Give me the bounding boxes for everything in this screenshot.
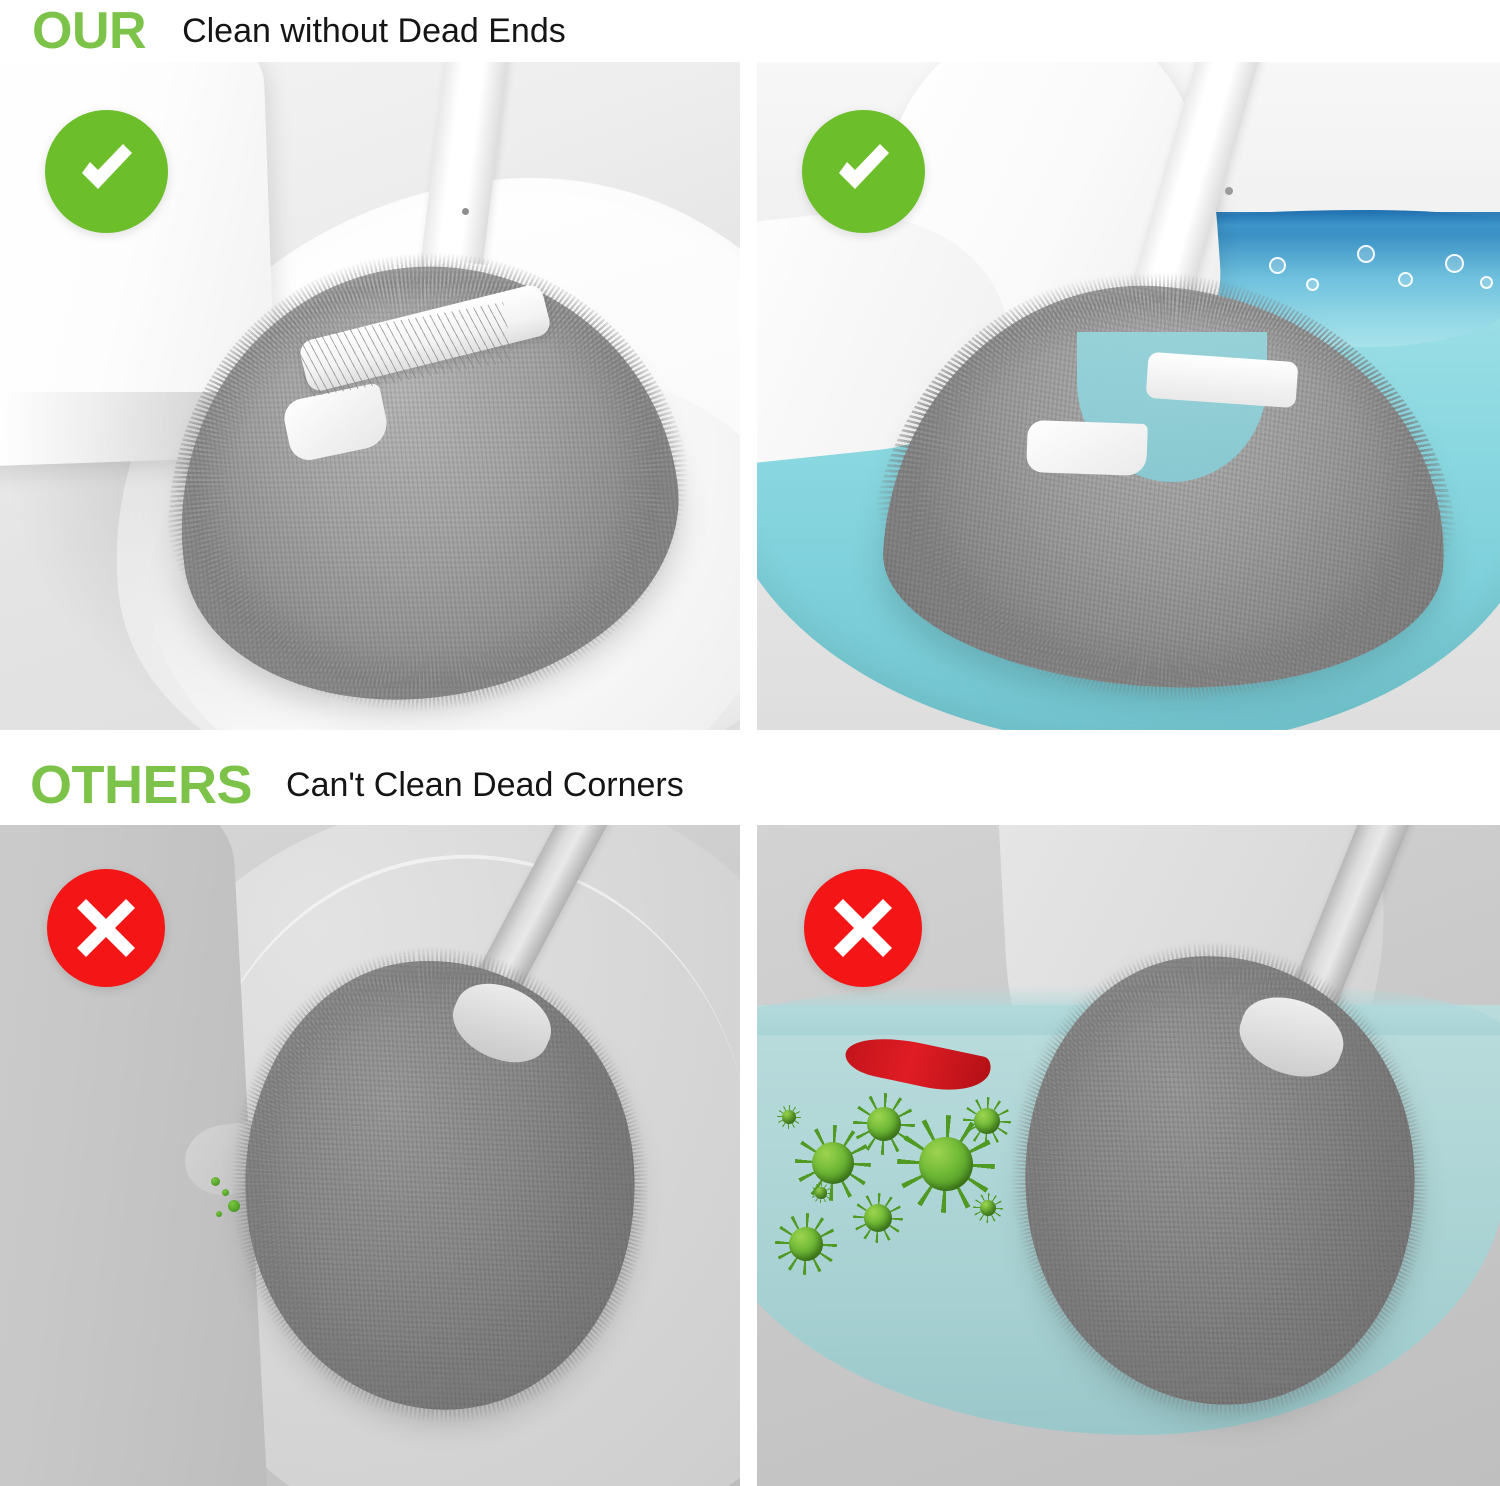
cross-icon — [71, 893, 141, 963]
germ-icon — [811, 1183, 831, 1203]
bubble — [1269, 257, 1286, 274]
germ-spot — [222, 1189, 229, 1196]
check-badge — [45, 110, 168, 233]
germ-icon — [963, 1097, 1011, 1145]
check-icon — [827, 135, 901, 209]
germ-icon — [795, 1125, 871, 1201]
panel-others-dry — [0, 825, 740, 1486]
brush-head-neck — [1026, 420, 1148, 476]
infographic-root: OUR Clean without Dead Ends — [0, 0, 1500, 1486]
cross-badge — [804, 869, 922, 987]
germ-core — [815, 1187, 826, 1198]
germ-spot — [216, 1211, 222, 1217]
check-badge — [802, 110, 925, 233]
germ-core — [864, 1204, 892, 1232]
our-tag-label: OUR — [32, 5, 146, 57]
panel-others-wet — [757, 825, 1500, 1486]
bubble — [1445, 254, 1464, 273]
our-subtitle: Clean without Dead Ends — [182, 14, 566, 48]
panel-our-dry — [0, 62, 740, 730]
germ-core — [782, 1110, 795, 1123]
cross-icon — [828, 893, 898, 963]
bubble — [1480, 276, 1493, 289]
others-tag-label: OTHERS — [30, 758, 252, 812]
germ-spot — [211, 1177, 220, 1186]
others-header: OTHERS Can't Clean Dead Corners — [0, 745, 1500, 825]
bubble — [1398, 272, 1413, 287]
germ-icon — [973, 1193, 1003, 1223]
our-header: OUR Clean without Dead Ends — [0, 0, 1500, 62]
panel-our-wet — [757, 62, 1500, 730]
bubble — [1306, 278, 1319, 291]
bubble — [1357, 245, 1375, 263]
others-subtitle: Can't Clean Dead Corners — [286, 768, 684, 802]
germ-spot — [228, 1200, 240, 1212]
check-icon — [70, 135, 144, 209]
germ-icon — [775, 1213, 837, 1275]
handle-hole-icon — [1225, 187, 1233, 195]
cross-badge — [47, 869, 165, 987]
handle-hole-icon — [462, 208, 469, 215]
germ-icon — [853, 1193, 903, 1243]
germ-icon — [777, 1105, 801, 1129]
